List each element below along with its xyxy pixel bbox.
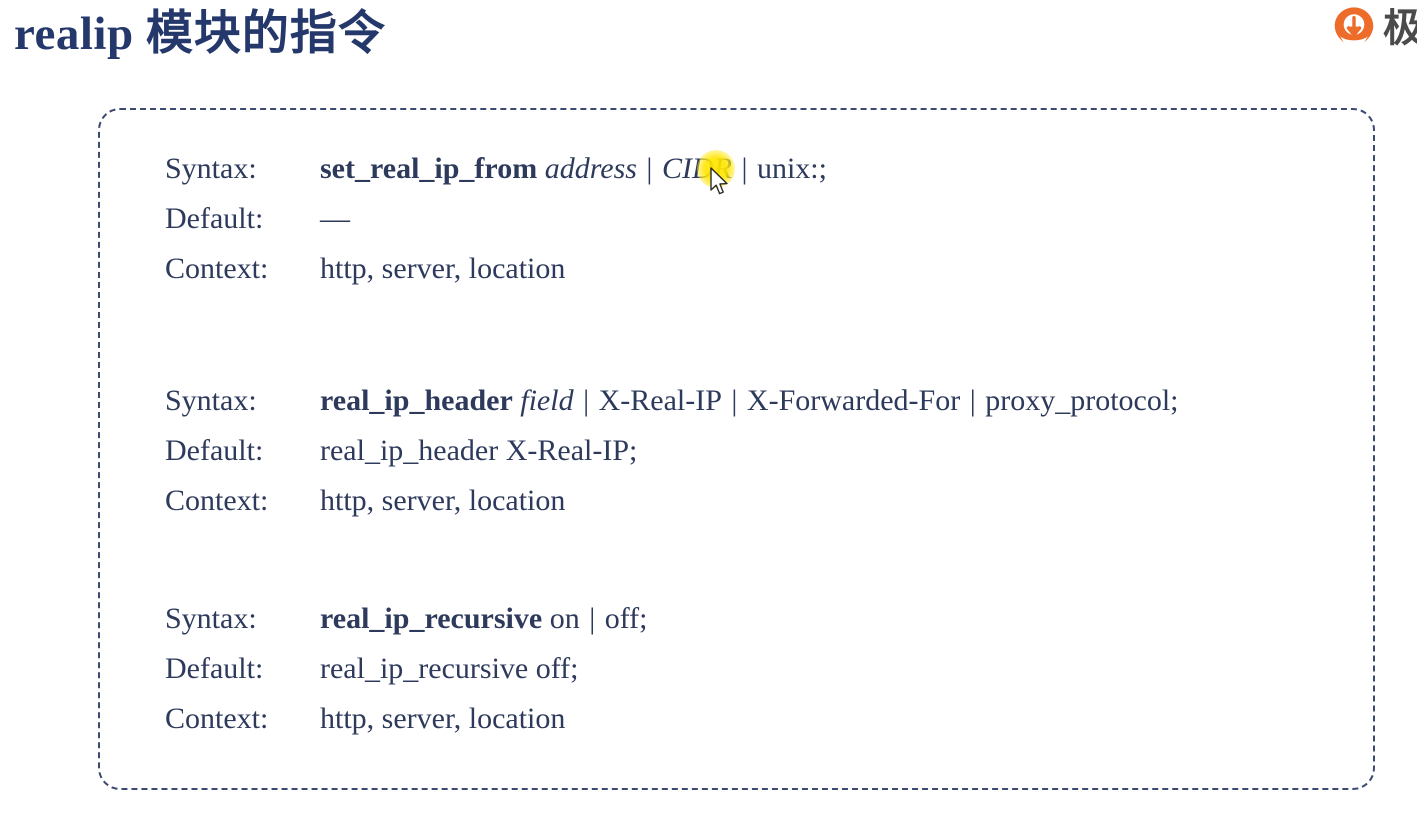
directives-panel: Syntax: set_real_ip_from address | CIDR … [98,108,1375,790]
directive-row-context: Context: http, server, location [165,484,1179,534]
brand-logo: 极 [1332,4,1417,52]
directive-row-context: Context: http, server, location [165,252,827,302]
directive-row-default: Default: real_ip_header X-Real-IP; [165,434,1179,484]
row-label: Context: [165,484,320,518]
row-value: http, server, location [320,252,565,286]
row-label: Default: [165,434,320,468]
directive-row-default: Default: real_ip_recursive off; [165,652,647,702]
directive-row-syntax: Syntax: real_ip_recursive on | off; [165,602,647,652]
directive-name: real_ip_recursive [320,602,542,635]
page-title-cjk: 模块的指令 [146,6,386,61]
brand-text: 极 [1383,8,1417,48]
directive-option-1: X-Forwarded-For [747,384,960,417]
row-value: http, server, location [320,484,565,518]
directive-block-real-ip-recursive: Syntax: real_ip_recursive on | off; Defa… [165,602,647,752]
directive-row-default: Default: — [165,202,827,252]
page-title: realip 模块的指令 [14,2,386,66]
row-label: Default: [165,202,320,236]
row-label: Syntax: [165,384,320,418]
directive-option-1: off; [605,602,648,635]
row-value: — [320,202,350,236]
directive-option-0: X-Real-IP [599,384,722,417]
row-label: Context: [165,702,320,736]
row-value: real_ip_header X-Real-IP; [320,434,637,468]
directive-option-0: on [550,602,580,635]
row-value: set_real_ip_from address | CIDR | unix:; [320,152,827,186]
page-title-latin: realip [14,8,134,60]
directive-name: set_real_ip_from [320,152,537,185]
directive-option-1: unix:; [757,152,827,185]
row-value: http, server, location [320,702,565,736]
directive-param: address [545,152,637,185]
directive-block-real-ip-header: Syntax: real_ip_header field | X-Real-IP… [165,384,1179,534]
directive-block-set-real-ip-from: Syntax: set_real_ip_from address | CIDR … [165,152,827,302]
row-value: real_ip_header field | X-Real-IP | X-For… [320,384,1179,418]
row-label: Context: [165,252,320,286]
directive-option-2: proxy_protocol; [985,384,1178,417]
row-label: Default: [165,652,320,686]
directive-option-0: CIDR [662,152,732,185]
directive-row-context: Context: http, server, location [165,702,647,752]
directive-name: real_ip_header [320,384,513,417]
row-value: real_ip_recursive off; [320,652,579,686]
geekbang-pin-logo-icon [1332,6,1376,50]
row-value: real_ip_recursive on | off; [320,602,647,636]
directive-row-syntax: Syntax: set_real_ip_from address | CIDR … [165,152,827,202]
row-label: Syntax: [165,602,320,636]
directive-param: field [520,384,573,417]
row-label: Syntax: [165,152,320,186]
directive-row-syntax: Syntax: real_ip_header field | X-Real-IP… [165,384,1179,434]
